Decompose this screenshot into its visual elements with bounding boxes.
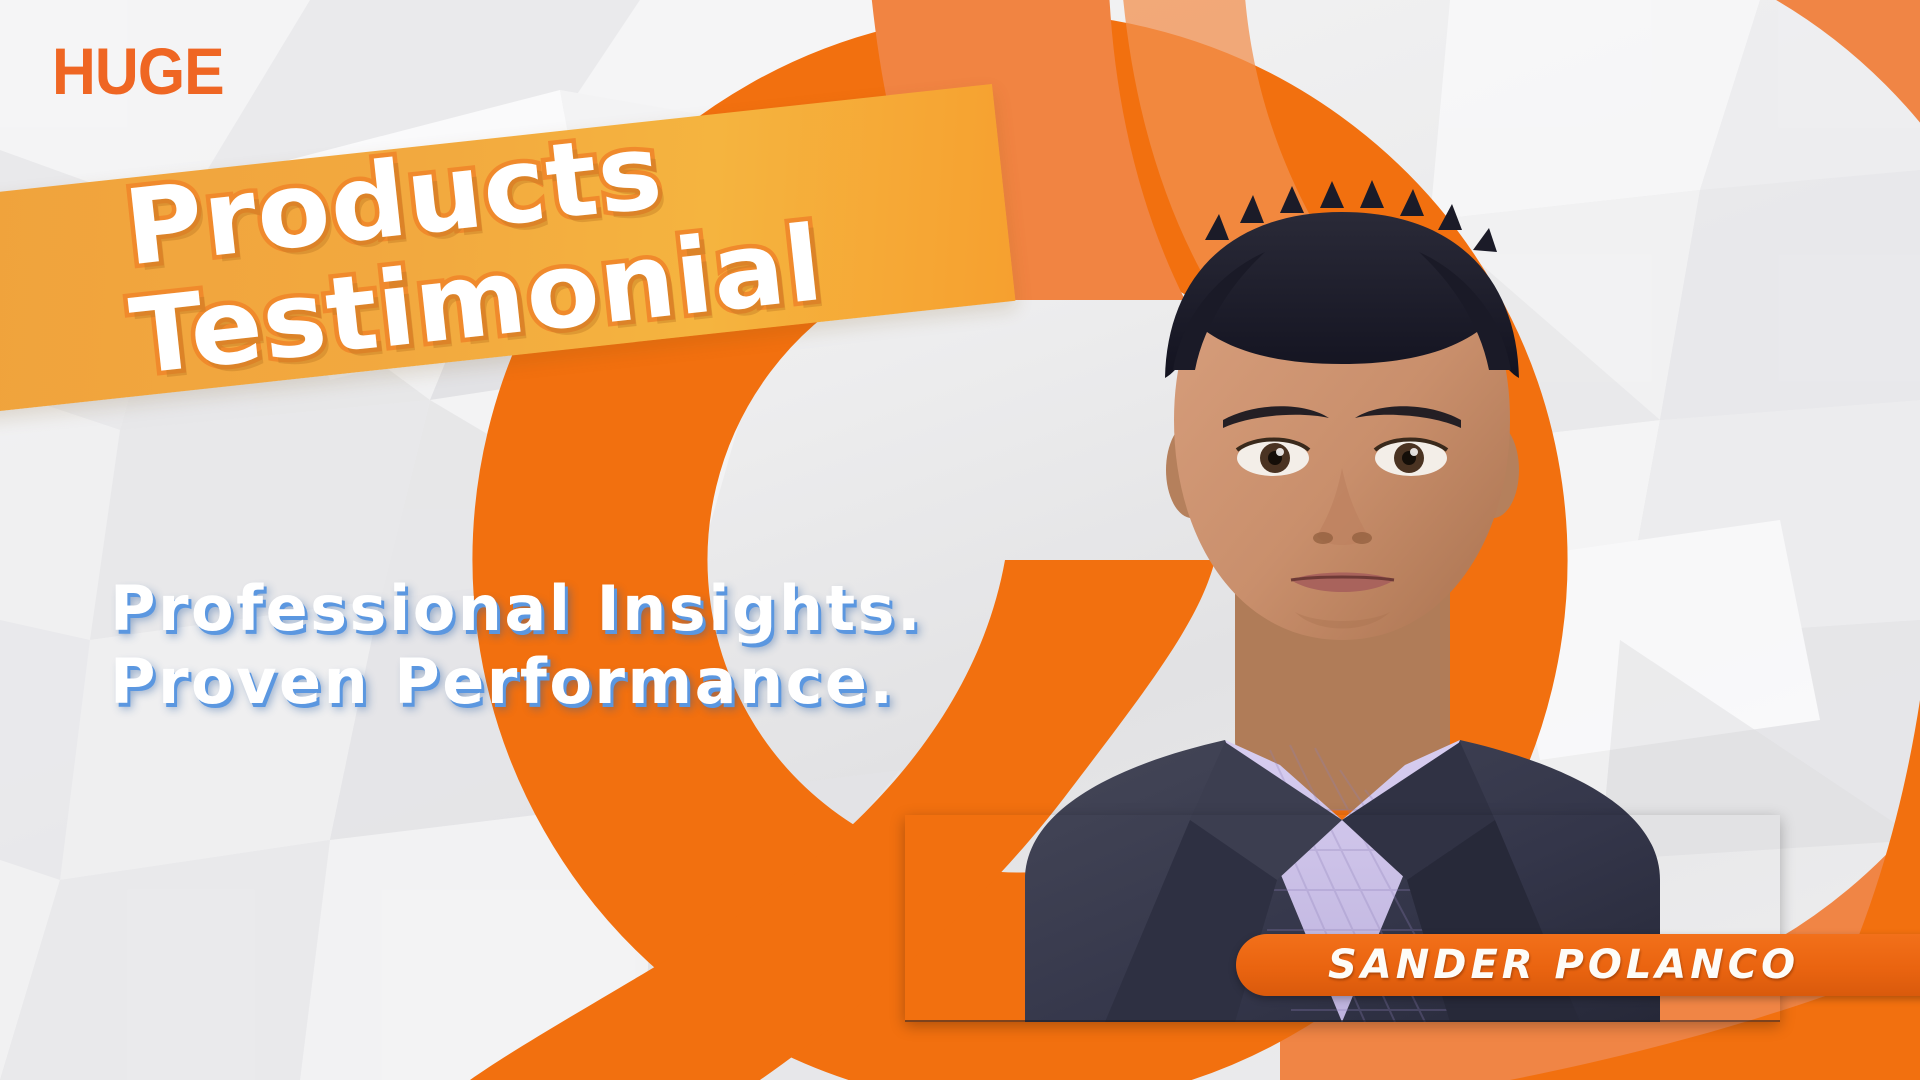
tagline-line-1: Professional Insights.: [110, 572, 1030, 645]
testimonial-slide: HUGE Products Testimonial Professional I…: [0, 0, 1920, 1080]
tagline-line-2: Proven Performance.: [110, 645, 1030, 718]
tagline-block: Professional Insights. Proven Performanc…: [110, 572, 1030, 718]
speaker-name: SANDER POLANCO: [1328, 942, 1799, 988]
huge-logo: HUGE: [52, 38, 224, 104]
speaker-name-bar: SANDER POLANCO: [1236, 934, 1920, 996]
